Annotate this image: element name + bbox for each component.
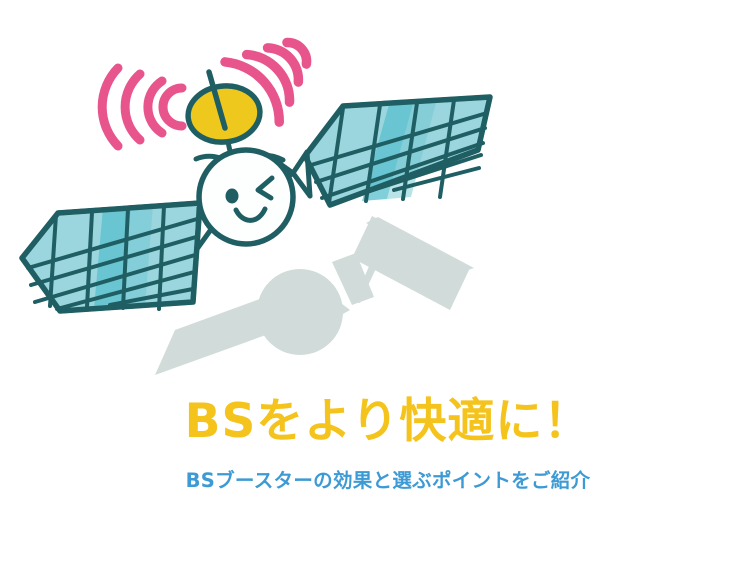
slide-canvas: BSをより快適に！ BSブースターの効果と選ぶポイントをご紹介 — [0, 0, 750, 563]
signal-waves-left — [102, 68, 182, 146]
satellite-head — [199, 150, 293, 244]
solar-panel-right — [305, 97, 490, 205]
parabolic-dish — [185, 72, 263, 146]
eye-left — [226, 189, 239, 204]
solar-panel-left — [22, 203, 200, 311]
satellite-illustration — [0, 0, 750, 563]
